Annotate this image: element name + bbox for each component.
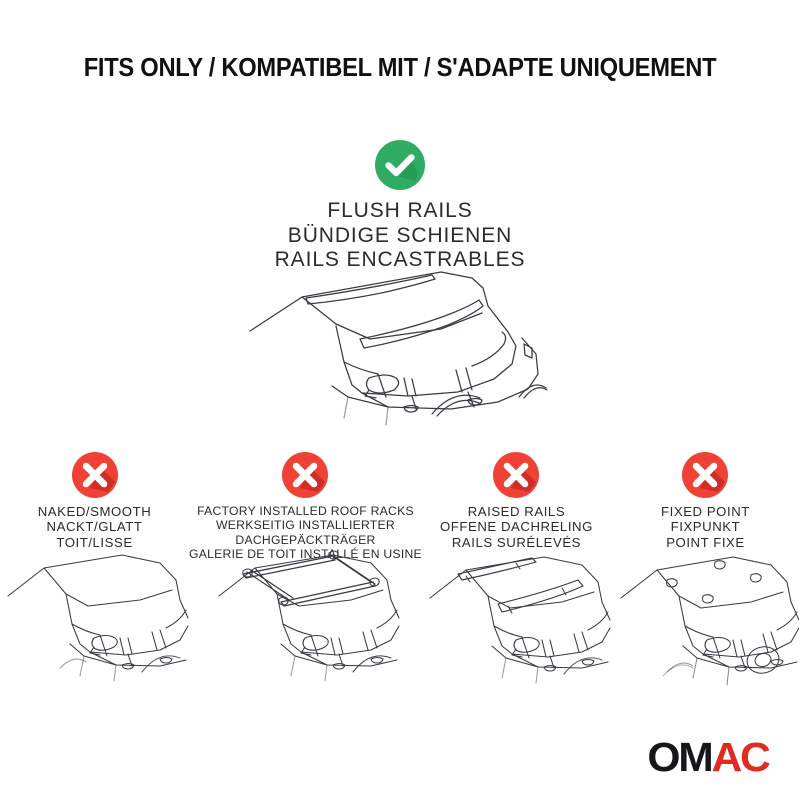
rejected-label-en: FACTORY INSTALLED ROOF RACKS (189, 504, 422, 518)
x-circle-icon (282, 452, 328, 498)
approved-label-de: BÜNDIGE SCHIENEN (0, 224, 800, 249)
rejected-card-raised-rails: RAISED RAILS OFFENE DACHRELING RAILS SUR… (422, 452, 611, 702)
rejected-label-de: NACKT/GLATT (38, 519, 152, 534)
rejected-card-naked-smooth: NAKED/SMOOTH NACKT/GLATT TOIT/LISSE (0, 452, 189, 702)
rejected-fitment-cards: NAKED/SMOOTH NACKT/GLATT TOIT/LISSE (0, 452, 800, 702)
rejected-label-en: FIXED POINT (661, 504, 750, 519)
rejected-label-en: NAKED/SMOOTH (38, 504, 152, 519)
rejected-label-de-1: WERKSEITIG INSTALLIERTER (189, 518, 422, 532)
fitment-infographic: FITS ONLY / KOMPATIBEL MIT / S'ADAPTE UN… (0, 0, 800, 800)
rejected-label-de: OFFENE DACHRELING (440, 519, 593, 534)
vehicle-naked-roof (0, 548, 190, 688)
x-circle-icon (493, 452, 539, 498)
rejected-label-en: RAISED RAILS (440, 504, 593, 519)
page-title: FITS ONLY / KOMPATIBEL MIT / S'ADAPTE UN… (28, 54, 772, 83)
rejected-label-group-naked: NAKED/SMOOTH NACKT/GLATT TOIT/LISSE (38, 504, 152, 550)
rejected-label-de: FIXPUNKT (661, 519, 750, 534)
x-circle-icon (72, 452, 118, 498)
x-circle-icon (682, 452, 728, 498)
logo-text-dark: OM (647, 734, 711, 780)
rejected-card-fixed-point: FIXED POINT FIXPUNKT POINT FIXE (611, 452, 800, 702)
approved-label-en: FLUSH RAILS (0, 199, 800, 224)
approved-fitment-block: FLUSH RAILS BÜNDIGE SCHIENEN RAILS ENCAS… (0, 140, 800, 273)
logo-text-red: AC (711, 734, 768, 780)
rejected-card-factory-roof-racks: FACTORY INSTALLED ROOF RACKS WERKSEITIG … (189, 452, 422, 702)
omac-logo: OMAC (647, 737, 768, 778)
rejected-label-group-raised: RAISED RAILS OFFENE DACHRELING RAILS SUR… (440, 504, 593, 550)
rejected-label-group-fixed: FIXED POINT FIXPUNKT POINT FIXE (661, 504, 750, 550)
vehicle-factory-crossbars (207, 544, 403, 690)
hero-vehicle-flush-rails (236, 266, 576, 451)
check-circle-icon (375, 140, 425, 190)
vehicle-raised-rails (420, 548, 612, 690)
vehicle-fixed-point-mounts (611, 548, 799, 690)
approved-label-group: FLUSH RAILS BÜNDIGE SCHIENEN RAILS ENCAS… (0, 199, 800, 273)
